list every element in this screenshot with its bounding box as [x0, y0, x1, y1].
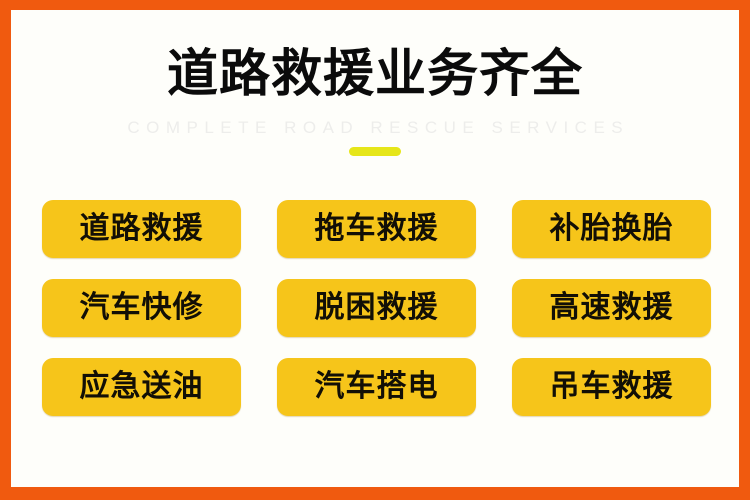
page-subtitle: COMPLETE ROAD RESCUE SERVICES: [11, 117, 739, 139]
service-chip-label: 汽车快修: [80, 291, 204, 325]
service-chip-tire-repair-replace[interactable]: 补胎换胎: [512, 200, 711, 258]
page-title: 道路救援业务齐全: [11, 46, 739, 104]
service-chip-label: 应急送油: [80, 370, 204, 404]
service-chip-crane-rescue[interactable]: 吊车救援: [512, 358, 711, 416]
service-chip-label: 汽车搭电: [315, 370, 439, 404]
poster-frame: 道路救援业务齐全 COMPLETE ROAD RESCUE SERVICES 道…: [0, 0, 750, 500]
services-grid: 道路救援 拖车救援 补胎换胎 汽车快修 脱困救援 高速救援 应急送油 汽车搭电: [42, 200, 711, 416]
service-chip-label: 拖车救援: [315, 212, 439, 246]
service-chip-label: 脱困救援: [315, 291, 439, 325]
service-chip-label: 道路救援: [80, 212, 204, 246]
service-chip-label: 高速救援: [550, 291, 674, 325]
accent-underline: [349, 147, 401, 156]
service-chip-label: 吊车救援: [550, 370, 674, 404]
service-chip-jump-start[interactable]: 汽车搭电: [277, 358, 476, 416]
service-chip-emergency-fuel[interactable]: 应急送油: [42, 358, 241, 416]
service-chip-label: 补胎换胎: [550, 212, 674, 246]
service-chip-road-rescue[interactable]: 道路救援: [42, 200, 241, 258]
service-chip-highway-rescue[interactable]: 高速救援: [512, 279, 711, 337]
service-chip-extraction-rescue[interactable]: 脱困救援: [277, 279, 476, 337]
poster-canvas: 道路救援业务齐全 COMPLETE ROAD RESCUE SERVICES 道…: [11, 10, 739, 487]
service-chip-tow-rescue[interactable]: 拖车救援: [277, 200, 476, 258]
service-chip-quick-car-repair[interactable]: 汽车快修: [42, 279, 241, 337]
